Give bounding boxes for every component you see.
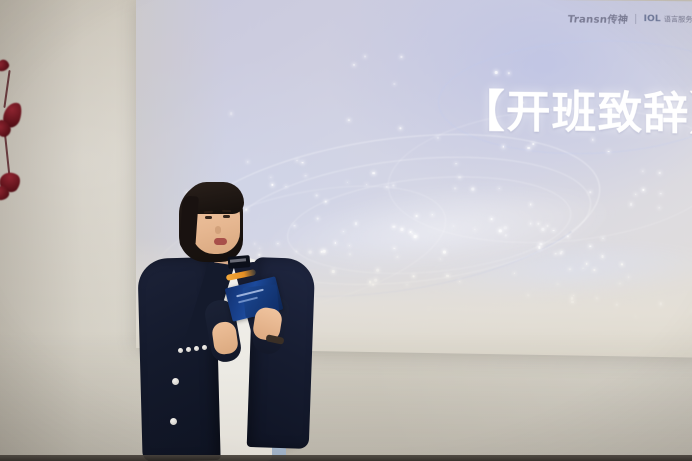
- presentation-photo: Transn传神 IOL 语言服务 【开班致辞】: [0, 0, 692, 461]
- cuff-button: [202, 345, 207, 350]
- floor-baseboard: [0, 455, 692, 461]
- speaker-mouth: [214, 238, 227, 245]
- speaker-eye: [205, 216, 212, 219]
- cuff-button: [194, 346, 199, 351]
- cuff-button: [186, 347, 191, 352]
- blazer-button: [172, 378, 179, 385]
- speaker-figure: [0, 0, 692, 461]
- speaker-eye: [223, 215, 230, 218]
- speaker-eyebrow: [222, 210, 231, 212]
- blazer-button: [170, 418, 177, 425]
- speaker-nose: [215, 226, 221, 234]
- cuff-button: [178, 348, 183, 353]
